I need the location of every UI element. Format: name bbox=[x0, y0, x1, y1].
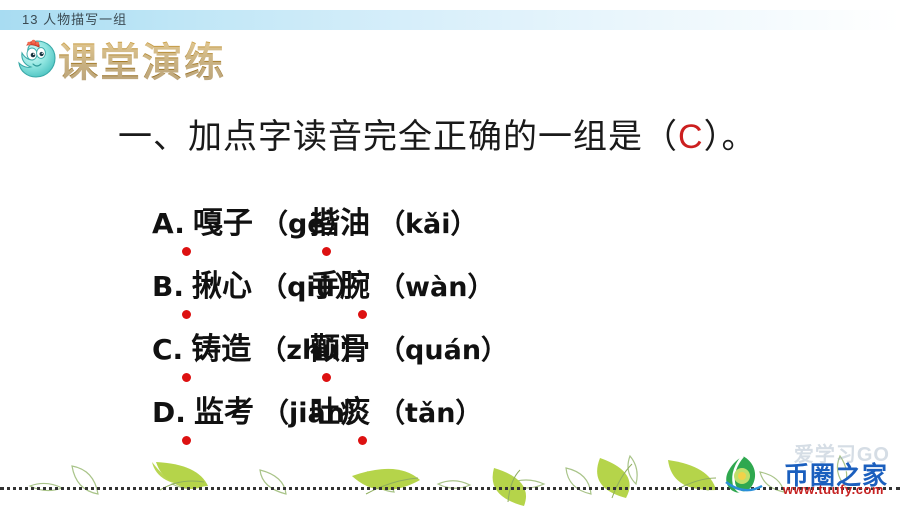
option-a-left-word: 嘎子 bbox=[193, 207, 253, 240]
option-b-right-word: 手腕 bbox=[310, 270, 370, 303]
option-c-right-word: 颧骨 bbox=[310, 333, 370, 366]
option-a-right-pinyin: （kǎi） bbox=[378, 209, 477, 240]
option-c-right-pinyin: （quán） bbox=[378, 335, 508, 366]
emphasis-dot bbox=[322, 373, 331, 382]
option-c-left: C. 铸造 （zhù） bbox=[0, 331, 310, 370]
lesson-bar bbox=[0, 10, 900, 30]
option-b-label: B. bbox=[152, 270, 184, 303]
option-row[interactable]: C. 铸造 （zhù） 颧骨 （quán） bbox=[0, 331, 900, 394]
option-c-right: 颧骨 （quán） bbox=[310, 331, 508, 370]
question-number: 一、 bbox=[118, 118, 188, 156]
emphasis-dot bbox=[182, 373, 191, 382]
leaf-circle-logo-icon bbox=[720, 452, 766, 498]
question-text: 加点字读音完全正确的一组是（ bbox=[188, 118, 678, 156]
option-c-left-word: 铸造 bbox=[191, 333, 251, 366]
emphasis-dot bbox=[358, 310, 367, 319]
option-c-label: C. bbox=[152, 333, 183, 366]
emphasis-dot bbox=[322, 247, 331, 256]
options-list: A. 嘎子 （gě） 揩油 （kǎi） B. 揪心 （qiū） 手腕 （wàn）… bbox=[0, 205, 900, 457]
question-text-tail: ）。 bbox=[704, 118, 757, 156]
option-a-label: A. bbox=[152, 207, 185, 240]
option-a-right: 揩油 （kǎi） bbox=[310, 205, 478, 244]
question-line: 一、加点字读音完全正确的一组是（C）。 bbox=[118, 112, 757, 162]
option-d-label: D. bbox=[152, 396, 186, 429]
option-d-right-word: 吐痰 bbox=[310, 396, 370, 429]
option-b-right: 手腕 （wàn） bbox=[310, 268, 494, 307]
emphasis-dot bbox=[182, 310, 191, 319]
answer-letter: C bbox=[678, 118, 704, 156]
option-d-left-word: 监考 bbox=[194, 396, 254, 429]
option-b-right-pinyin: （wàn） bbox=[378, 272, 494, 303]
option-d-right-pinyin: （tǎn） bbox=[378, 398, 482, 429]
lesson-bar-label: 13 人物描写一组 bbox=[22, 11, 127, 29]
option-row[interactable]: B. 揪心 （qiū） 手腕 （wàn） bbox=[0, 268, 900, 331]
option-row[interactable]: A. 嘎子 （gě） 揩油 （kǎi） bbox=[0, 205, 900, 268]
dolphin-mascot-icon bbox=[14, 36, 60, 82]
option-a-left: A. 嘎子 （gě） bbox=[0, 205, 310, 244]
option-a-right-word: 揩油 bbox=[310, 207, 370, 240]
watermark: 爱学习GO 币圈之家 www.tuufy.com bbox=[716, 438, 896, 502]
emphasis-dot bbox=[182, 247, 191, 256]
option-b-left-word: 揪心 bbox=[192, 270, 252, 303]
option-b-left: B. 揪心 （qiū） bbox=[0, 268, 310, 307]
page-title: 课堂演练 bbox=[58, 40, 226, 86]
watermark-url: www.tuufy.com bbox=[783, 482, 884, 497]
option-d-right: 吐痰 （tǎn） bbox=[310, 394, 482, 433]
option-d-left: D. 监考 （jiān） bbox=[0, 394, 310, 433]
